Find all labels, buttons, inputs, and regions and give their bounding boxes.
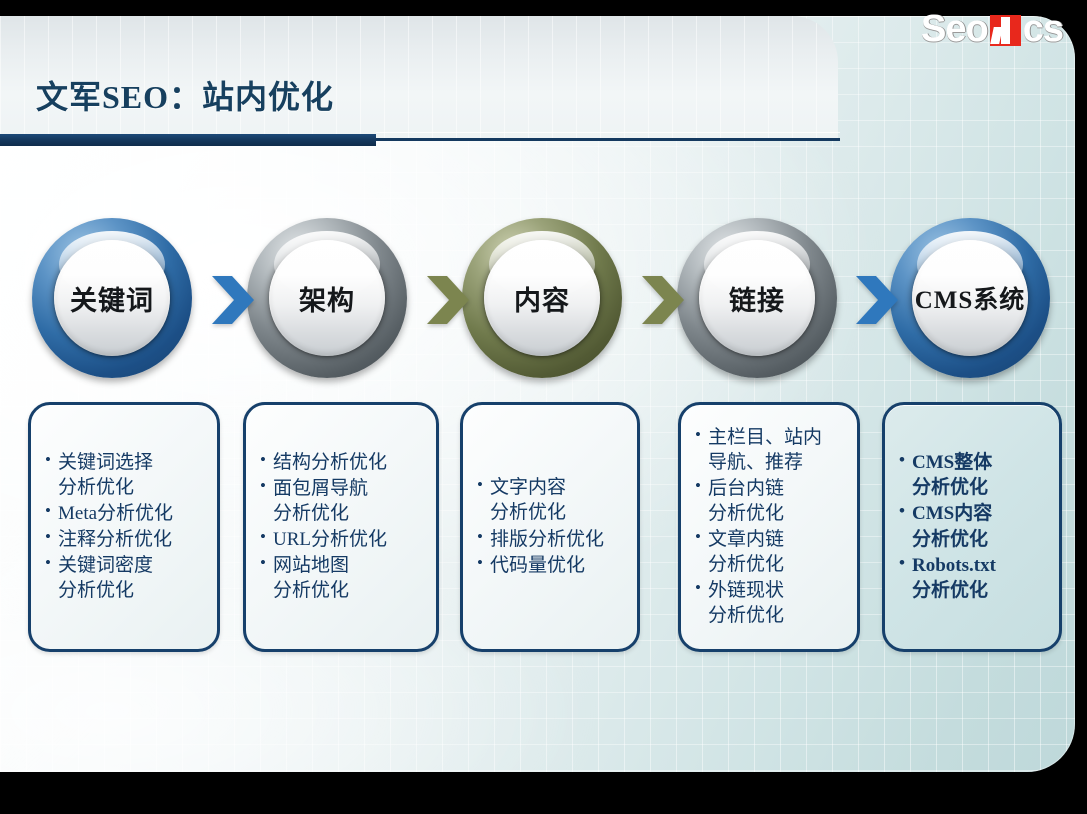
list-item: Robots.txt 分析优化 [899,553,1049,603]
list-item: CMS内容 分析优化 [899,501,1049,551]
node-label: 关键词 [70,279,154,318]
logo-text-right: cs [1023,10,1063,48]
list-item: 面包屑导航 分析优化 [260,476,426,526]
list-item: 注释分析优化 [45,527,207,552]
title-divider-hairline [376,132,840,133]
node-disc: CMS系统 [912,240,1028,356]
detail-box-5[interactable]: CMS整体 分析优化CMS内容 分析优化Robots.txt 分析优化 [882,402,1062,652]
list-item: 关键词密度 分析优化 [45,553,207,603]
detail-list: CMS整体 分析优化CMS内容 分析优化Robots.txt 分析优化 [885,450,1059,603]
detail-list: 结构分析优化面包屑导航 分析优化URL分析优化网站地图 分析优化 [246,450,436,604]
node-label: CMS系统 [915,280,1026,316]
detail-list: 关键词选择 分析优化Meta分析优化注释分析优化关键词密度 分析优化 [31,450,217,604]
flow-arrow-4-icon [854,274,902,326]
list-item: 后台内链 分析优化 [695,476,847,526]
list-item: URL分析优化 [260,527,426,552]
detail-box-2[interactable]: 结构分析优化面包屑导航 分析优化URL分析优化网站地图 分析优化 [243,402,439,652]
seotcs-logo: Seo cs [921,7,1063,51]
list-item: Meta分析优化 [45,501,207,526]
node-label: 架构 [299,279,355,318]
list-item: 代码量优化 [477,553,627,578]
presentation-slide: Seo cs 文军SEO：站内优化 关键词架构内容链接CMS系统 关键词选择 分… [0,0,1087,814]
process-node-5[interactable]: CMS系统 [890,218,1050,378]
detail-list: 主栏目、站内 导航、推荐后台内链 分析优化文章内链 分析优化外链现状 分析优化 [681,425,857,630]
process-node-1[interactable]: 关键词 [32,218,192,378]
logo-text-left: Seo [921,10,988,48]
process-node-3[interactable]: 内容 [462,218,622,378]
node-label: 链接 [729,279,785,318]
node-disc: 内容 [484,240,600,356]
list-item: 关键词选择 分析优化 [45,450,207,500]
node-label: 内容 [514,279,570,318]
node-disc: 链接 [699,240,815,356]
title-divider-thick [0,134,376,146]
process-node-2[interactable]: 架构 [247,218,407,378]
detail-box-1[interactable]: 关键词选择 分析优化Meta分析优化注释分析优化关键词密度 分析优化 [28,402,220,652]
page-title: 文军SEO：站内优化 [36,72,334,118]
node-disc: 架构 [269,240,385,356]
list-item: 文章内链 分析优化 [695,527,847,577]
flow-arrow-2-icon [425,274,473,326]
detail-list: 文字内容 分析优化排版分析优化代码量优化 [463,475,637,578]
list-item: 结构分析优化 [260,450,426,475]
detail-box-3[interactable]: 文字内容 分析优化排版分析优化代码量优化 [460,402,640,652]
flow-arrow-3-icon [640,274,688,326]
list-item: 主栏目、站内 导航、推荐 [695,425,847,475]
list-item: CMS整体 分析优化 [899,450,1049,500]
process-flow: 关键词架构内容链接CMS系统 [32,218,1052,383]
red-square-mark-icon [990,15,1021,46]
process-node-4[interactable]: 链接 [677,218,837,378]
detail-box-row: 关键词选择 分析优化Meta分析优化注释分析优化关键词密度 分析优化结构分析优化… [28,402,1058,654]
list-item: 排版分析优化 [477,527,627,552]
detail-box-4[interactable]: 主栏目、站内 导航、推荐后台内链 分析优化文章内链 分析优化外链现状 分析优化 [678,402,860,652]
node-disc: 关键词 [54,240,170,356]
list-item: 文字内容 分析优化 [477,475,627,525]
title-divider-thin [376,138,840,141]
list-item: 外链现状 分析优化 [695,578,847,628]
flow-arrow-1-icon [210,274,258,326]
list-item: 网站地图 分析优化 [260,553,426,603]
